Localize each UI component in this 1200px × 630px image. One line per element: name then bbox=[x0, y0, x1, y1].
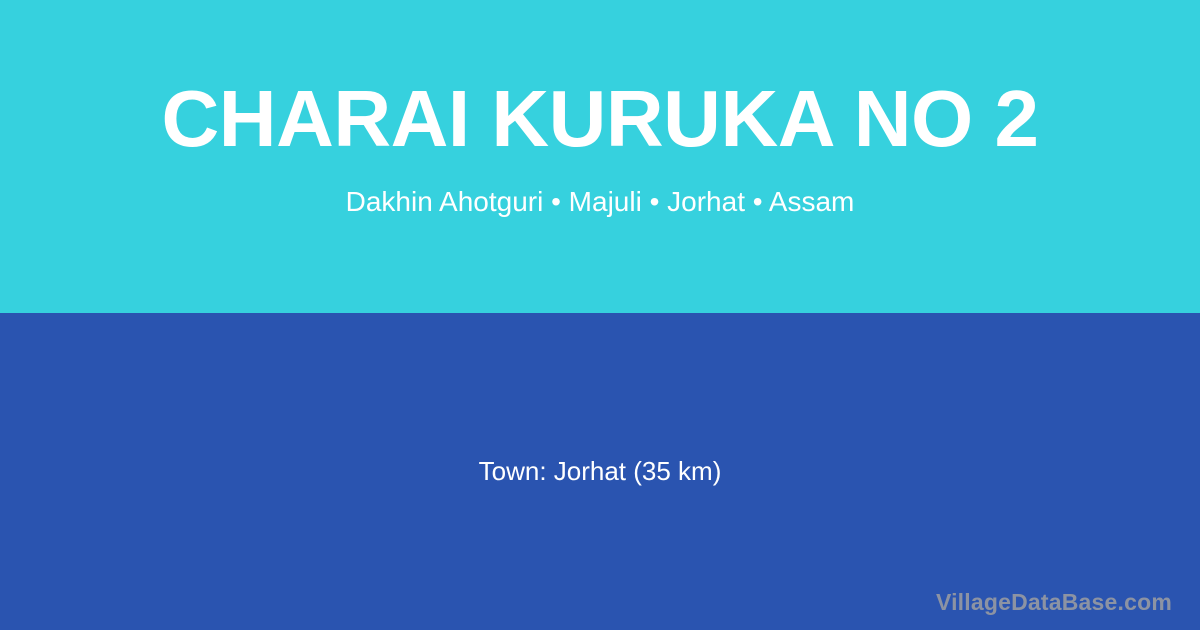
detail-panel: Town: Jorhat (35 km) VillageDataBase.com bbox=[0, 313, 1200, 630]
page-title: CHARAI KURUKA NO 2 bbox=[162, 79, 1039, 159]
nearest-town-label: Town: Jorhat (35 km) bbox=[479, 455, 722, 489]
hero-banner: CHARAI KURUKA NO 2 Dakhin Ahotguri • Maj… bbox=[0, 0, 1200, 313]
village-info-card: CHARAI KURUKA NO 2 Dakhin Ahotguri • Maj… bbox=[0, 0, 1200, 630]
site-watermark: VillageDataBase.com bbox=[936, 589, 1172, 616]
location-breadcrumb: Dakhin Ahotguri • Majuli • Jorhat • Assa… bbox=[346, 185, 855, 219]
